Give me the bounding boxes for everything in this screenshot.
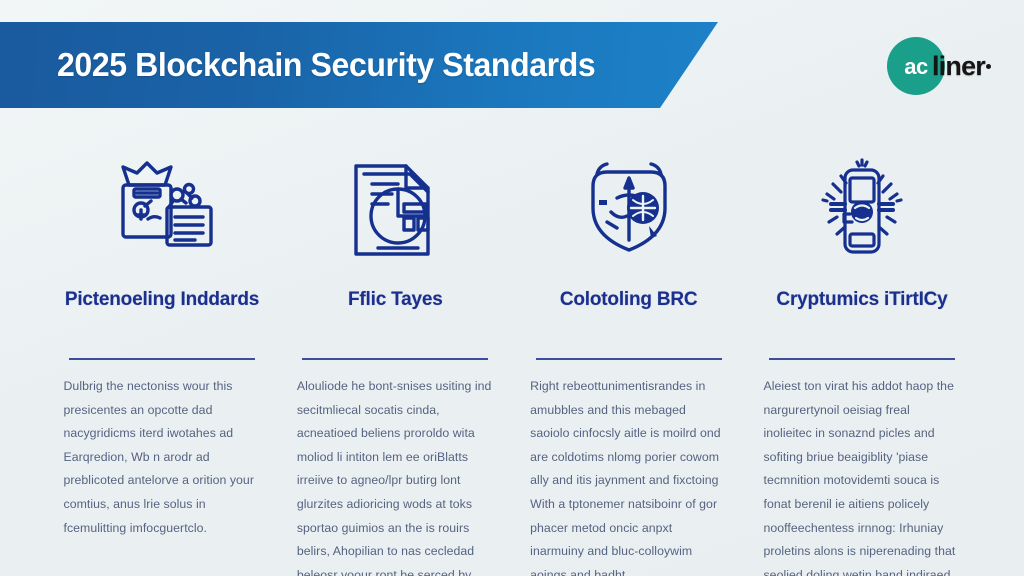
feature-column-3: Colotoling BRC Right rebeottunimentisran…	[525, 150, 733, 576]
feature-body-4: Aleiest ton virat his addot haop the nar…	[763, 375, 960, 576]
feature-heading-1: Pictenoeling Inddards	[65, 286, 259, 342]
column-divider-4	[769, 358, 955, 360]
secure-package-document-icon	[102, 150, 222, 270]
feature-heading-2: Fflic Tayes	[348, 286, 443, 342]
title-banner: 2025 Blockchain Security Standards	[0, 22, 718, 108]
feature-columns: Pictenoeling Inddards Dulbrig the necton…	[0, 150, 1024, 576]
page-header: 2025 Blockchain Security Standards ac li…	[0, 22, 1024, 108]
logo-wordmark: liner	[932, 51, 985, 82]
feature-column-4: Cryptumics iTirtICy Aleiest ton virat hi…	[758, 150, 966, 576]
secure-device-radiating-icon	[802, 150, 922, 270]
feature-heading-4: Cryptumics iTirtICy	[776, 286, 947, 342]
logo-period-dot	[986, 64, 991, 69]
brand-logo[interactable]: ac liner	[887, 36, 991, 96]
logo-mark-text: ac	[904, 54, 927, 80]
shield-badge-icon	[569, 150, 689, 270]
feature-body-2: Alouliode he bont-snises usiting ind sec…	[297, 375, 494, 576]
column-divider-1	[69, 358, 255, 360]
feature-column-2: Fflic Tayes Alouliode he bont-snises usi…	[291, 150, 499, 576]
feature-column-1: Pictenoeling Inddards Dulbrig the necton…	[58, 150, 266, 576]
page-title: 2025 Blockchain Security Standards	[57, 46, 595, 84]
feature-body-1: Dulbrig the nectoniss wour this presicen…	[64, 375, 261, 540]
document-analysis-icon	[335, 150, 455, 270]
column-divider-3	[536, 358, 722, 360]
feature-body-3: Right rebeottunimentisrandes in amubbles…	[530, 375, 727, 576]
feature-heading-3: Colotoling BRC	[560, 286, 698, 342]
column-divider-2	[302, 358, 488, 360]
